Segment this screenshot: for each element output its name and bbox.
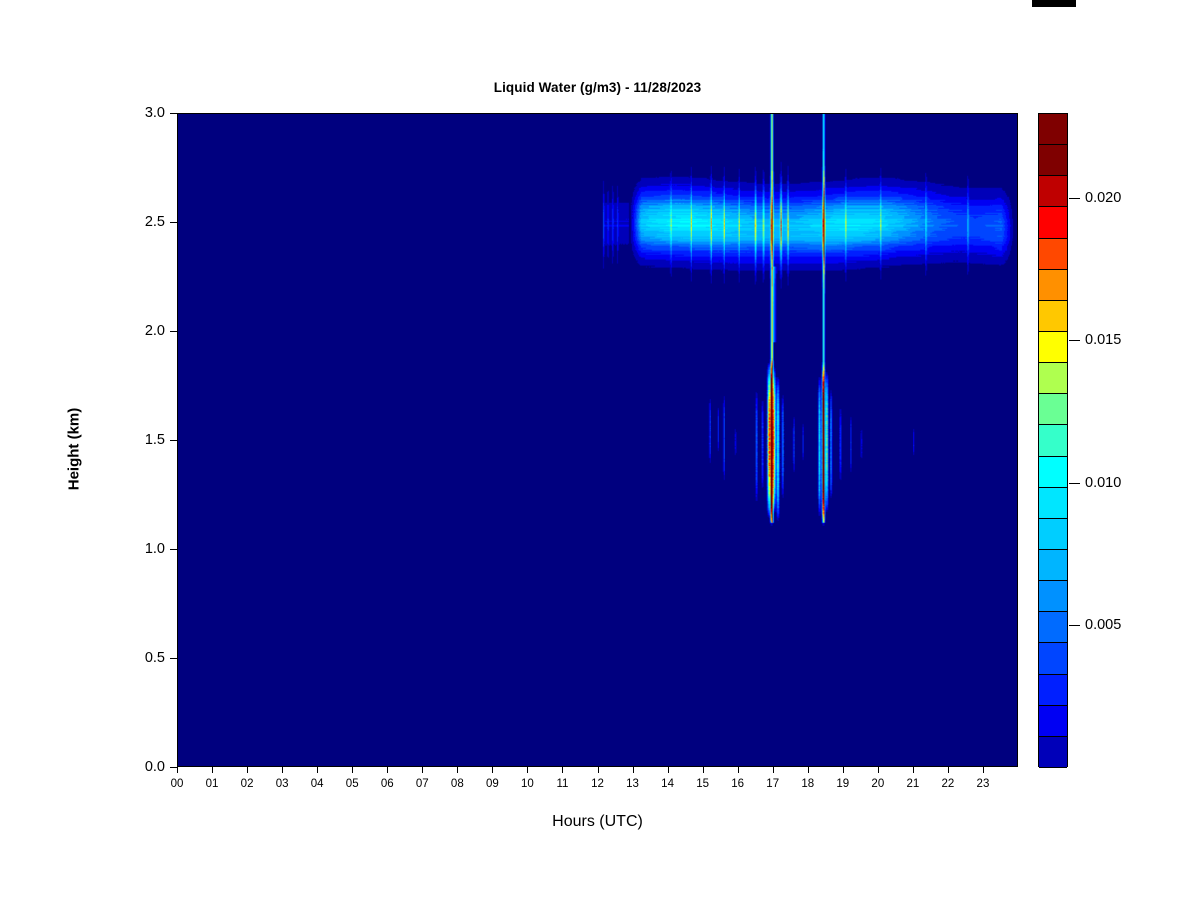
x-tick-label: 22 <box>942 778 955 790</box>
colorbar-segment <box>1039 737 1067 768</box>
y-tick-label: 1.5 <box>145 432 165 448</box>
x-tick-label: 10 <box>521 778 534 790</box>
colorbar-segment <box>1039 643 1067 674</box>
x-tick-mark <box>562 767 563 773</box>
y-tick-label: 2.0 <box>145 323 165 339</box>
x-tick-mark <box>703 767 704 773</box>
y-axis-label-wrapper: Height (km) <box>64 439 84 459</box>
x-tick-mark <box>773 767 774 773</box>
colorbar-segment <box>1039 488 1067 519</box>
colorbar-tick-mark <box>1069 198 1080 199</box>
colorbar-tick-mark <box>1069 340 1080 341</box>
colorbar-segment <box>1039 145 1067 176</box>
x-tick-mark <box>668 767 669 773</box>
x-tick-label: 04 <box>311 778 324 790</box>
x-tick-label: 17 <box>766 778 779 790</box>
x-tick-mark <box>177 767 178 773</box>
x-tick-mark <box>282 767 283 773</box>
colorbar-segment <box>1039 363 1067 394</box>
x-tick-mark <box>808 767 809 773</box>
y-tick-mark <box>170 222 177 223</box>
x-tick-label: 00 <box>171 778 184 790</box>
x-tick-label: 23 <box>977 778 990 790</box>
x-tick-mark <box>317 767 318 773</box>
colorbar-segment <box>1039 239 1067 270</box>
colorbar-tick-mark <box>1069 483 1080 484</box>
y-tick-label: 1.0 <box>145 541 165 557</box>
heatmap-canvas <box>178 114 1017 766</box>
x-tick-mark <box>492 767 493 773</box>
colorbar <box>1038 113 1068 767</box>
y-tick-mark <box>170 549 177 550</box>
x-tick-label: 12 <box>591 778 604 790</box>
colorbar-tick-label: 0.010 <box>1085 475 1121 491</box>
colorbar-segment <box>1039 425 1067 456</box>
x-tick-label: 15 <box>696 778 709 790</box>
x-tick-mark <box>913 767 914 773</box>
colorbar-tick-label: 0.020 <box>1085 190 1121 206</box>
y-tick-mark <box>170 767 177 768</box>
x-tick-label: 14 <box>661 778 674 790</box>
colorbar-tick-mark <box>1069 625 1080 626</box>
x-tick-mark <box>457 767 458 773</box>
colorbar-segment <box>1039 519 1067 550</box>
y-axis-label: Height (km) <box>66 408 83 491</box>
x-tick-label: 13 <box>626 778 639 790</box>
x-tick-label: 20 <box>871 778 884 790</box>
x-tick-label: 08 <box>451 778 464 790</box>
colorbar-segment <box>1039 114 1067 145</box>
colorbar-segment <box>1039 332 1067 363</box>
figure-canvas: Liquid Water (g/m3) - 11/28/2023 Height … <box>0 0 1200 900</box>
y-tick-mark <box>170 113 177 114</box>
x-tick-mark <box>527 767 528 773</box>
x-tick-label: 11 <box>556 778 568 790</box>
colorbar-segment <box>1039 207 1067 238</box>
x-tick-mark <box>422 767 423 773</box>
x-tick-mark <box>738 767 739 773</box>
colorbar-tick-label: 0.015 <box>1085 332 1121 348</box>
colorbar-segment <box>1039 270 1067 301</box>
x-tick-mark <box>948 767 949 773</box>
colorbar-segment <box>1039 612 1067 643</box>
colorbar-segment <box>1039 457 1067 488</box>
colorbar-segment <box>1039 394 1067 425</box>
heatmap-plot-area <box>177 113 1018 767</box>
colorbar-segment <box>1039 581 1067 612</box>
x-tick-label: 06 <box>381 778 394 790</box>
x-tick-label: 18 <box>801 778 814 790</box>
x-tick-label: 03 <box>276 778 289 790</box>
y-tick-label: 0.0 <box>145 759 165 775</box>
x-tick-label: 05 <box>346 778 359 790</box>
y-tick-mark <box>170 440 177 441</box>
x-tick-label: 07 <box>416 778 429 790</box>
colorbar-segment <box>1039 675 1067 706</box>
x-tick-label: 19 <box>836 778 849 790</box>
colorbar-segment <box>1039 706 1067 737</box>
y-tick-mark <box>170 331 177 332</box>
y-tick-label: 2.5 <box>145 214 165 230</box>
x-tick-mark <box>983 767 984 773</box>
x-tick-label: 09 <box>486 778 499 790</box>
x-tick-mark <box>878 767 879 773</box>
chart-title: Liquid Water (g/m3) - 11/28/2023 <box>177 80 1018 95</box>
x-tick-mark <box>247 767 248 773</box>
x-tick-label: 16 <box>731 778 744 790</box>
y-tick-label: 0.5 <box>145 650 165 666</box>
x-tick-mark <box>212 767 213 773</box>
y-tick-label: 3.0 <box>145 105 165 121</box>
x-tick-mark <box>598 767 599 773</box>
colorbar-tick-label: 0.005 <box>1085 617 1121 633</box>
top-black-bar-artifact <box>1032 0 1076 7</box>
x-tick-label: 01 <box>206 778 219 790</box>
colorbar-segment <box>1039 176 1067 207</box>
colorbar-segment <box>1039 550 1067 581</box>
y-tick-mark <box>170 658 177 659</box>
x-tick-label: 21 <box>906 778 919 790</box>
x-tick-mark <box>387 767 388 773</box>
x-tick-mark <box>352 767 353 773</box>
x-tick-mark <box>843 767 844 773</box>
colorbar-segment <box>1039 301 1067 332</box>
x-tick-mark <box>633 767 634 773</box>
x-axis-label: Hours (UTC) <box>177 813 1018 831</box>
x-tick-label: 02 <box>241 778 254 790</box>
